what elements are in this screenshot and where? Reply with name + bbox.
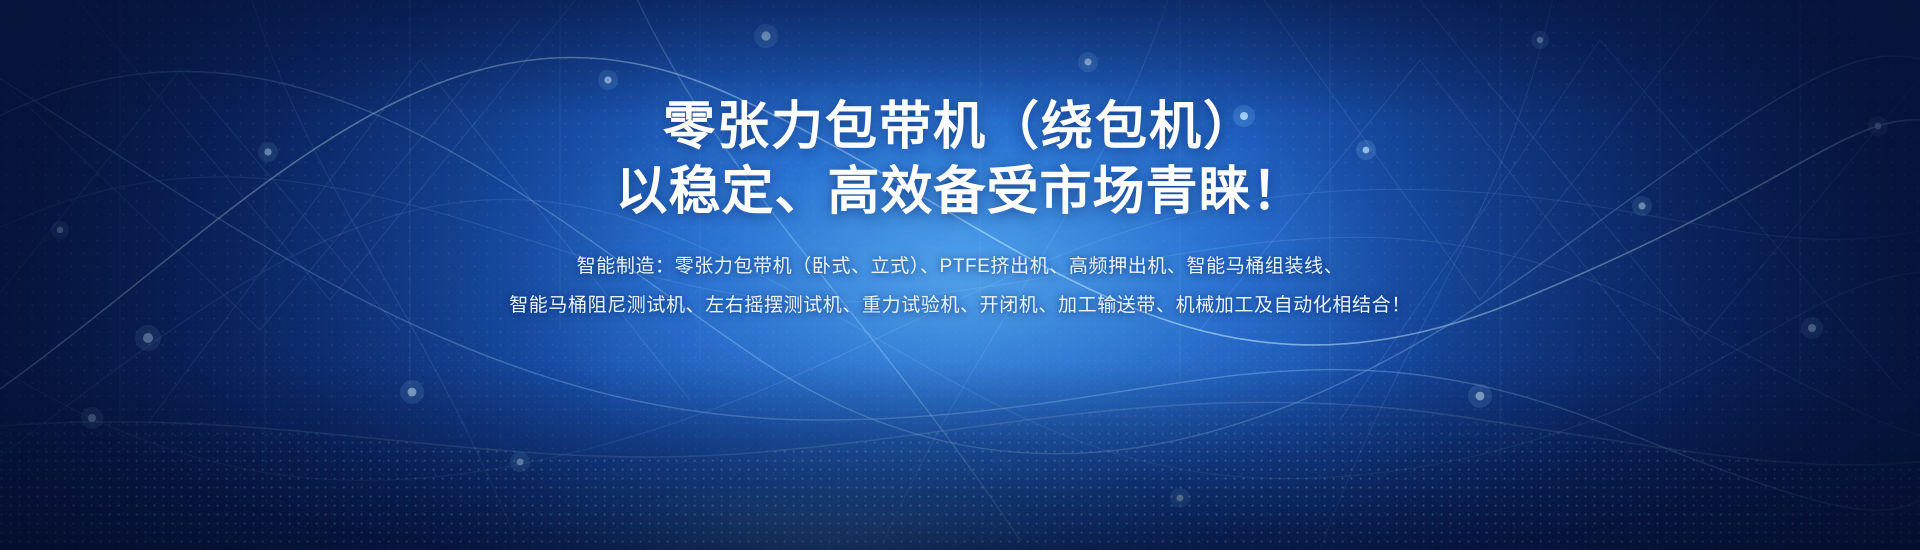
subtitle-line-2: 智能马桶阻尼测试机、左右摇摆测试机、重力试验机、开闭机、加工输送带、机械加工及自…: [509, 287, 1411, 324]
hero-banner: 零张力包带机（绕包机） 以稳定、高效备受市场青睐！ 智能制造：零张力包带机（卧式…: [0, 0, 1920, 550]
headline-line-1: 零张力包带机（绕包机）: [663, 98, 1257, 157]
subtitle-line-1: 智能制造：零张力包带机（卧式、立式）、PTFE挤出机、高频押出机、智能马桶组装线…: [577, 248, 1344, 285]
banner-content: 零张力包带机（绕包机） 以稳定、高效备受市场青睐！ 智能制造：零张力包带机（卧式…: [0, 0, 1920, 550]
headline-line-2: 以稳定、高效备受市场青睐！: [615, 163, 1304, 222]
